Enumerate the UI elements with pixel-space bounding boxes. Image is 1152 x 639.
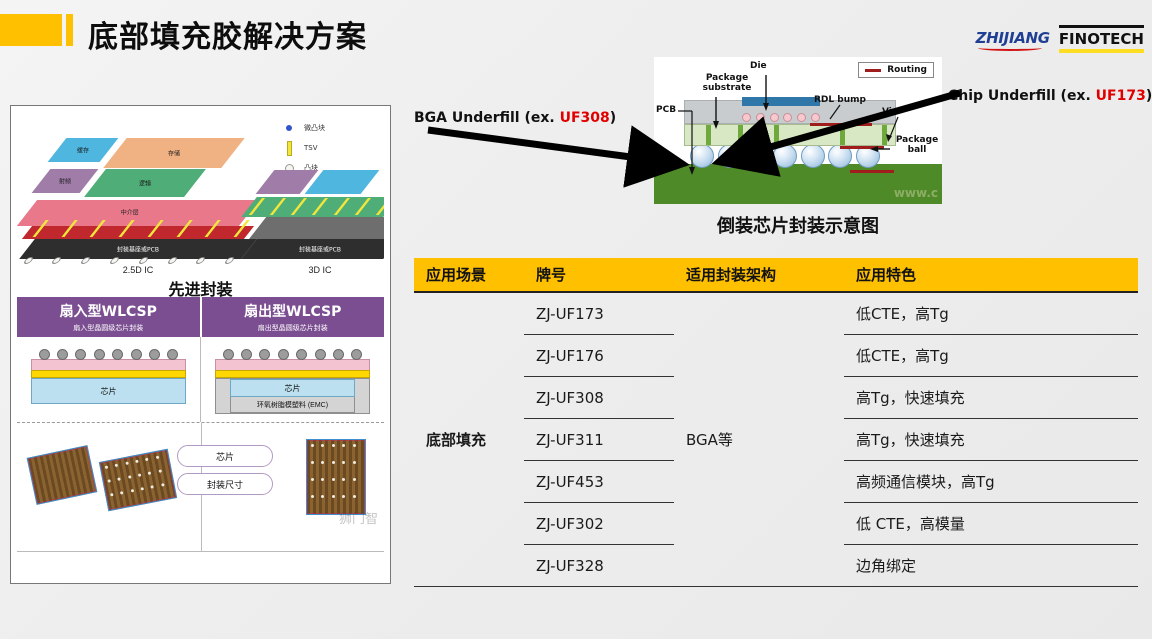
cell-architecture: BGA等 [674,292,844,586]
th-application-scene: 应用场景 [414,258,524,292]
wlcsp-fan-out-diagram: 芯片 环氧树脂模塑料 (EMC) [201,337,384,422]
cell-grade: ZJ-UF328 [524,545,674,587]
cell-feature: 低CTE，高Tg [844,292,1138,335]
ball-grid [105,455,172,506]
chip-body: 芯片 [31,378,186,404]
chip-body: 芯片 [230,379,355,397]
cell-feature: 边角绑定 [844,545,1138,587]
th-grade: 牌号 [524,258,674,292]
zhijiang-logo-text: ZHIJIANG [976,29,1050,47]
package-photo-3 [306,439,366,515]
via-4-icon [840,125,845,145]
advanced-packaging-illustration: 微凸块 TSV 凸块 缓存 存储 射频 [17,112,384,297]
chip-underfill-suffix: ) [1146,88,1152,104]
title-accent-block [0,14,62,46]
solder-ball-row [215,349,370,359]
table-row: 底部填充 ZJ-UF173 BGA等 低CTE，高Tg [414,292,1138,335]
legend-label: 微凸块 [304,123,325,133]
finotech-logo: FINOTECH [1059,22,1144,57]
emc-label: 环氧树脂模塑料 (EMC) [230,397,355,413]
routing-trace-2 [840,146,884,149]
th-architecture: 适用封装架构 [674,258,844,292]
left-image-panel: 微凸块 TSV 凸块 缓存 存储 射频 [10,105,391,584]
rdl-pink-layer [215,359,370,370]
solder-ball-row [31,349,186,359]
cell-grade: ZJ-UF176 [524,335,674,377]
rdl-metal-layer [31,370,186,378]
cell-feature: 高Tg，快速填充 [844,419,1138,461]
wlcsp-section: 扇入型WLCSP 扇入型晶圆级芯片封装 扇出型WLCSP 扇出型晶圆级芯片封装 … [17,297,384,422]
diagram-watermark: www.c [894,186,938,200]
die-logic: 逻辑 [84,169,206,197]
zhijiang-swoosh-icon [978,45,1042,51]
ic-3d-caption: 3D IC [249,265,384,275]
cell-grade: ZJ-UF302 [524,503,674,545]
page-title: 底部填充胶解决方案 [88,12,367,56]
ic-25d-stack: 缓存 存储 射频 逻辑 中介层 [27,138,249,275]
bga-underfill-suffix: ) [610,110,616,126]
die-layer [742,97,820,106]
callout-chip: 芯片 [177,445,273,467]
label-rdl-bump: RDL bump [814,95,866,105]
wlcsp-body-row: 芯片 芯片 环氧树脂模塑料 (EMC) [17,337,384,422]
legend-label: TSV [304,144,318,152]
package-base-3d: 封装基座或PCB [241,239,384,259]
cell-grade: ZJ-UF311 [524,419,674,461]
die-cache: 缓存 [48,138,119,162]
package-photo-2 [99,449,177,511]
die-memory: 存储 [103,138,244,168]
tsv-layer [22,226,254,239]
wlcsp-fan-in-diagram: 芯片 [17,337,201,422]
title-accent-stripe [66,14,73,46]
routing-trace-1 [810,123,872,126]
cell-grade: ZJ-UF173 [524,292,674,335]
cell-grade: ZJ-UF453 [524,461,674,503]
chip-underfill-annotation: Chip Underfill (ex. UF173) [948,88,1152,104]
wlcsp-fan-in-header: 扇入型WLCSP 扇入型晶圆级芯片封装 [17,297,202,337]
advanced-packaging-title: 先进封装 [17,276,384,297]
table-bottom-rule [414,586,1138,587]
chip-underfill-code: UF173 [1096,88,1146,104]
label-package-substrate: Packagesubstrate [690,73,764,94]
package-substrate-layer [684,124,896,146]
stacked-die-layer [241,197,384,217]
product-table: 应用场景 牌号 适用封装架构 应用特色 底部填充 ZJ-UF173 BGA等 低… [414,258,1138,587]
via-5-icon [882,125,887,145]
tsv-bar-icon [282,141,296,156]
packaging-legend: 微凸块 TSV 凸块 [282,118,378,178]
th-feature: 应用特色 [844,258,1138,292]
routing-swatch-icon [865,69,881,72]
wlcsp-fan-out-header: 扇出型WLCSP 扇出型晶圆级芯片封装 [202,297,385,337]
bga-underfill-code: UF308 [560,110,610,126]
label-pcb: PCB [656,105,676,115]
table-header-row: 应用场景 牌号 适用封装架构 应用特色 [414,258,1138,292]
tsv-row [32,220,250,237]
cell-feature: 高频通信模块，高Tg [844,461,1138,503]
rdl-pink-layer [31,359,186,370]
image-watermark: 狮门智 [339,508,378,527]
label-die: Die [750,61,767,71]
callout-package-size: 封装尺寸 [177,473,273,495]
die-3d-blue [305,170,380,194]
chip-underfill-prefix: Chip Underfill (ex. [948,88,1096,104]
flip-chip-cross-section-diagram: Die Packagesubstrate PCB RDL bump Via Pa… [654,57,942,204]
rdl-metal-layer [215,370,370,378]
legend-item-tsv: TSV [282,138,378,158]
cell-grade: ZJ-UF308 [524,377,674,419]
cell-feature: 高Tg，快速填充 [844,377,1138,419]
package-base-25d: 封装基座或PCB [19,239,257,259]
finotech-logo-text: FINOTECH [1059,30,1144,48]
label-via: Via [882,107,898,117]
legend-item-micro-bump: 微凸块 [282,118,378,138]
bga-underfill-prefix: BGA Underfill (ex. [414,110,560,126]
finotech-bottom-bar [1059,49,1144,53]
diagram-caption: 倒装芯片封装示意图 [654,212,942,238]
bga-underfill-annotation: BGA Underfill (ex. UF308) [414,110,616,126]
label-package-ball: Packageball [892,135,942,156]
package-photo-section: 芯片 封装尺寸 狮门智 [17,422,384,552]
ic-3d-stack: 封装基座或PCB 3D IC [249,170,384,275]
via-3-icon [774,125,779,145]
zhijiang-logo: ZHIJIANG [976,29,1050,51]
ic-25d-caption: 2.5D IC [27,265,249,275]
finotech-top-bar [1059,25,1144,28]
routing-trace-3 [850,170,894,173]
ball-grid [311,444,361,510]
micro-bump-dot-icon [282,125,296,131]
package-photo-1 [27,445,98,505]
emc-region: 芯片 环氧树脂模塑料 (EMC) [215,378,370,414]
page-header: 底部填充胶解决方案 ZHIJIANG FINOTECH [0,0,1152,66]
tsv-row-3d [248,198,384,215]
routing-legend: Routing [858,62,934,78]
via-1-icon [706,125,711,145]
company-logo: ZHIJIANG FINOTECH [976,22,1144,57]
substrate-3d [249,217,384,239]
routing-legend-label: Routing [887,65,927,75]
wlcsp-header-row: 扇入型WLCSP 扇入型晶圆级芯片封装 扇出型WLCSP 扇出型晶圆级芯片封装 [17,297,384,337]
rdl-bump-row [742,113,820,122]
via-2-icon [738,125,743,145]
cell-application-scene: 底部填充 [414,292,524,586]
cell-feature: 低 CTE，高模量 [844,503,1138,545]
cell-feature: 低CTE，高Tg [844,335,1138,377]
bump-row [22,257,236,264]
